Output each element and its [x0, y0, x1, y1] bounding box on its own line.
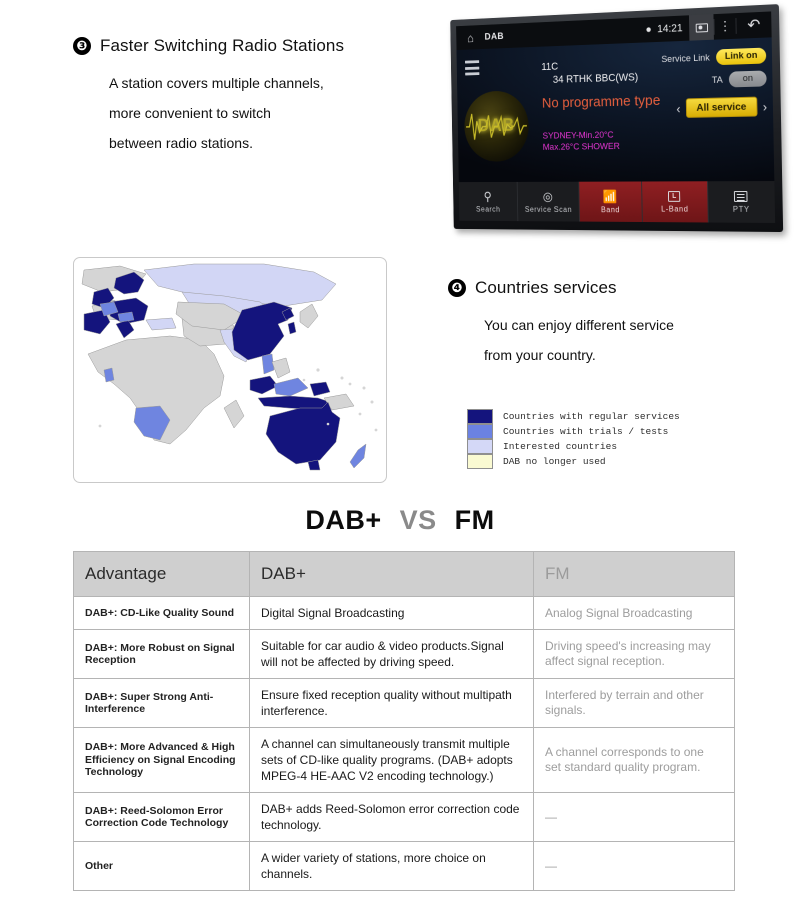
- row-1-advantage: DAB+: CD-Like Quality Sound: [74, 597, 250, 630]
- row-5-advantage: DAB+: Reed-Solomon Error Correction Code…: [74, 793, 250, 842]
- feature-3-line-3: between radio stations.: [109, 128, 403, 158]
- feature-3-line-1: A station covers multiple channels,: [109, 68, 403, 98]
- table-row: DAB+: CD-Like Quality Sound Digital Sign…: [74, 597, 735, 630]
- legend-item: DAB no longer used: [467, 454, 680, 469]
- table-row: DAB+: Reed-Solomon Error Correction Code…: [74, 793, 735, 842]
- list-menu-icon[interactable]: [465, 60, 479, 78]
- ta-row: TA on: [626, 70, 767, 90]
- all-service-button[interactable]: All service: [686, 97, 757, 118]
- column-header-advantage: Advantage: [74, 552, 250, 597]
- source-title: DAB: [484, 31, 503, 42]
- row-5-dab: DAB+ adds Reed-Solomon error correction …: [250, 793, 534, 842]
- l-band-icon: L: [668, 191, 680, 202]
- row-1-fm: Analog Signal Broadcasting: [534, 597, 735, 630]
- row-4-advantage: DAB+: More Advanced & High Efficiency on…: [74, 728, 250, 793]
- feature-4-line-1: You can enjoy different service: [484, 310, 768, 340]
- row-2-dab: Suitable for car audio & video products.…: [250, 630, 534, 679]
- column-header-dab: DAB+: [250, 552, 534, 597]
- location-pin-icon: ●: [641, 24, 656, 36]
- tab-service-scan[interactable]: ◎ Service Scan: [518, 182, 580, 222]
- map-legend: Countries with regular services Countrie…: [467, 409, 680, 469]
- table-row: DAB+: Super Strong Anti-Interference Ens…: [74, 679, 735, 728]
- service-filter-row: ‹ All service ›: [626, 96, 767, 119]
- head-unit-bezel: ⌂ DAB ● 14:21 ⋮ ↶ DAB: [450, 4, 783, 232]
- table-row: Other A wider variety of stations, more …: [74, 842, 735, 891]
- head-unit-right-controls: Service Link Link on TA on ‹ All service…: [625, 48, 767, 120]
- prev-service-arrow[interactable]: ‹: [676, 101, 680, 116]
- weather-line-2: Max.26°C SHOWER: [543, 141, 620, 153]
- world-dab-coverage-map: [73, 257, 387, 483]
- home-icon[interactable]: ⌂: [456, 30, 485, 45]
- tab-pty[interactable]: PTY: [708, 181, 775, 223]
- next-service-arrow[interactable]: ›: [763, 99, 768, 114]
- legend-swatch-nolonger: [467, 454, 493, 469]
- tab-l-band[interactable]: L L-Band: [642, 181, 708, 222]
- row-6-advantage: Other: [74, 842, 250, 891]
- legend-swatch-regular: [467, 409, 493, 424]
- search-icon: ⚲: [484, 190, 493, 202]
- legend-swatch-trials: [467, 424, 493, 439]
- ta-toggle[interactable]: on: [729, 70, 767, 87]
- feature-4-body: You can enjoy different service from you…: [484, 310, 768, 370]
- map-svg: [74, 258, 386, 482]
- feature-3-heading: ❸ Faster Switching Radio Stations: [73, 36, 403, 56]
- service-link-toggle[interactable]: Link on: [716, 48, 766, 66]
- car-head-unit-photo: ⌂ DAB ● 14:21 ⋮ ↶ DAB: [415, 4, 785, 242]
- head-unit-screen: ⌂ DAB ● 14:21 ⋮ ↶ DAB: [456, 11, 775, 223]
- screen-capture-icon[interactable]: [689, 14, 714, 41]
- feature-block-3: ❸ Faster Switching Radio Stations A stat…: [73, 36, 403, 158]
- row-5-fm: —: [534, 793, 735, 842]
- dab-logo-text: DAB: [478, 116, 516, 137]
- feature-3-body: A station covers multiple channels, more…: [109, 68, 403, 158]
- weather-line-1: SYDNEY-Min.20°C: [542, 130, 619, 142]
- tab-band[interactable]: 📶 Band: [579, 181, 643, 222]
- legend-label-nolonger: DAB no longer used: [503, 456, 606, 467]
- row-3-dab: Ensure fixed reception quality without m…: [250, 679, 534, 728]
- tab-band-label: Band: [601, 205, 620, 214]
- feature-4-title: Countries services: [475, 278, 617, 298]
- channel-info: 11C 34 RTHK BBC(WS): [541, 58, 638, 86]
- more-vertical-icon[interactable]: ⋮: [714, 18, 735, 35]
- legend-label-regular: Countries with regular services: [503, 411, 680, 422]
- tab-service-scan-label: Service Scan: [525, 205, 572, 214]
- feature-3-line-2: more convenient to switch: [109, 98, 403, 128]
- legend-item: Countries with regular services: [467, 409, 680, 424]
- title-fm: FM: [455, 505, 495, 535]
- tab-l-band-label: L-Band: [661, 204, 688, 213]
- list-lines-icon: [734, 191, 748, 202]
- ta-label: TA: [712, 74, 723, 85]
- feature-4-heading: ❹ Countries services: [448, 278, 768, 298]
- feature-block-4: ❹ Countries services You can enjoy diffe…: [448, 278, 768, 370]
- legend-label-interested: Interested countries: [503, 441, 617, 452]
- legend-item: Interested countries: [467, 439, 680, 454]
- tab-search-label: Search: [476, 205, 500, 213]
- row-3-advantage: DAB+: Super Strong Anti-Interference: [74, 679, 250, 728]
- feature-4-number-badge: ❹: [448, 279, 466, 297]
- signal-waves-icon: 📶: [603, 190, 618, 202]
- service-link-row: Service Link Link on: [625, 48, 766, 69]
- row-1-dab: Digital Signal Broadcasting: [250, 597, 534, 630]
- row-3-fm: Interfered by terrain and other signals.: [534, 679, 735, 728]
- table-row: DAB+: More Advanced & High Efficiency on…: [74, 728, 735, 793]
- legend-item: Countries with trials / tests: [467, 424, 680, 439]
- feature-4-line-2: from your country.: [484, 340, 768, 370]
- back-arrow-icon[interactable]: ↶: [736, 14, 771, 35]
- table-header-row: Advantage DAB+ FM: [74, 552, 735, 597]
- legend-label-trials: Countries with trials / tests: [503, 426, 668, 437]
- dab-vs-fm-table: Advantage DAB+ FM DAB+: CD-Like Quality …: [73, 551, 735, 891]
- head-unit-tab-bar: ⚲ Search ◎ Service Scan 📶 Band L L-Band: [459, 181, 775, 223]
- weather-info: SYDNEY-Min.20°C Max.26°C SHOWER: [542, 130, 619, 153]
- title-dab-plus: DAB+: [305, 505, 381, 535]
- clock-label: 14:21: [656, 22, 689, 35]
- scan-target-icon: ◎: [543, 190, 554, 202]
- row-6-fm: —: [534, 842, 735, 891]
- dab-logo-sphere: DAB: [464, 90, 529, 162]
- feature-3-number-badge: ❸: [73, 37, 91, 55]
- legend-swatch-interested: [467, 439, 493, 454]
- service-link-label: Service Link: [661, 52, 710, 64]
- row-4-fm: A channel corresponds to one set standar…: [534, 728, 735, 793]
- tab-search[interactable]: ⚲ Search: [459, 182, 519, 221]
- channel-number: 11C: [541, 58, 638, 73]
- row-2-advantage: DAB+: More Robust on Signal Reception: [74, 630, 250, 679]
- table-row: DAB+: More Robust on Signal Reception Su…: [74, 630, 735, 679]
- row-4-dab: A channel can simultaneously transmit mu…: [250, 728, 534, 793]
- tab-pty-label: PTY: [733, 204, 750, 213]
- row-2-fm: Driving speed's increasing may affect si…: [534, 630, 735, 679]
- column-header-fm: FM: [534, 552, 735, 597]
- head-unit-main-area: DAB 11C 34 RTHK BBC(WS) No programme typ…: [457, 37, 775, 182]
- title-vs: VS: [400, 505, 437, 535]
- row-6-dab: A wider variety of stations, more choice…: [250, 842, 534, 891]
- comparison-title: DAB+ VS FM: [0, 505, 800, 536]
- feature-3-title: Faster Switching Radio Stations: [100, 36, 344, 56]
